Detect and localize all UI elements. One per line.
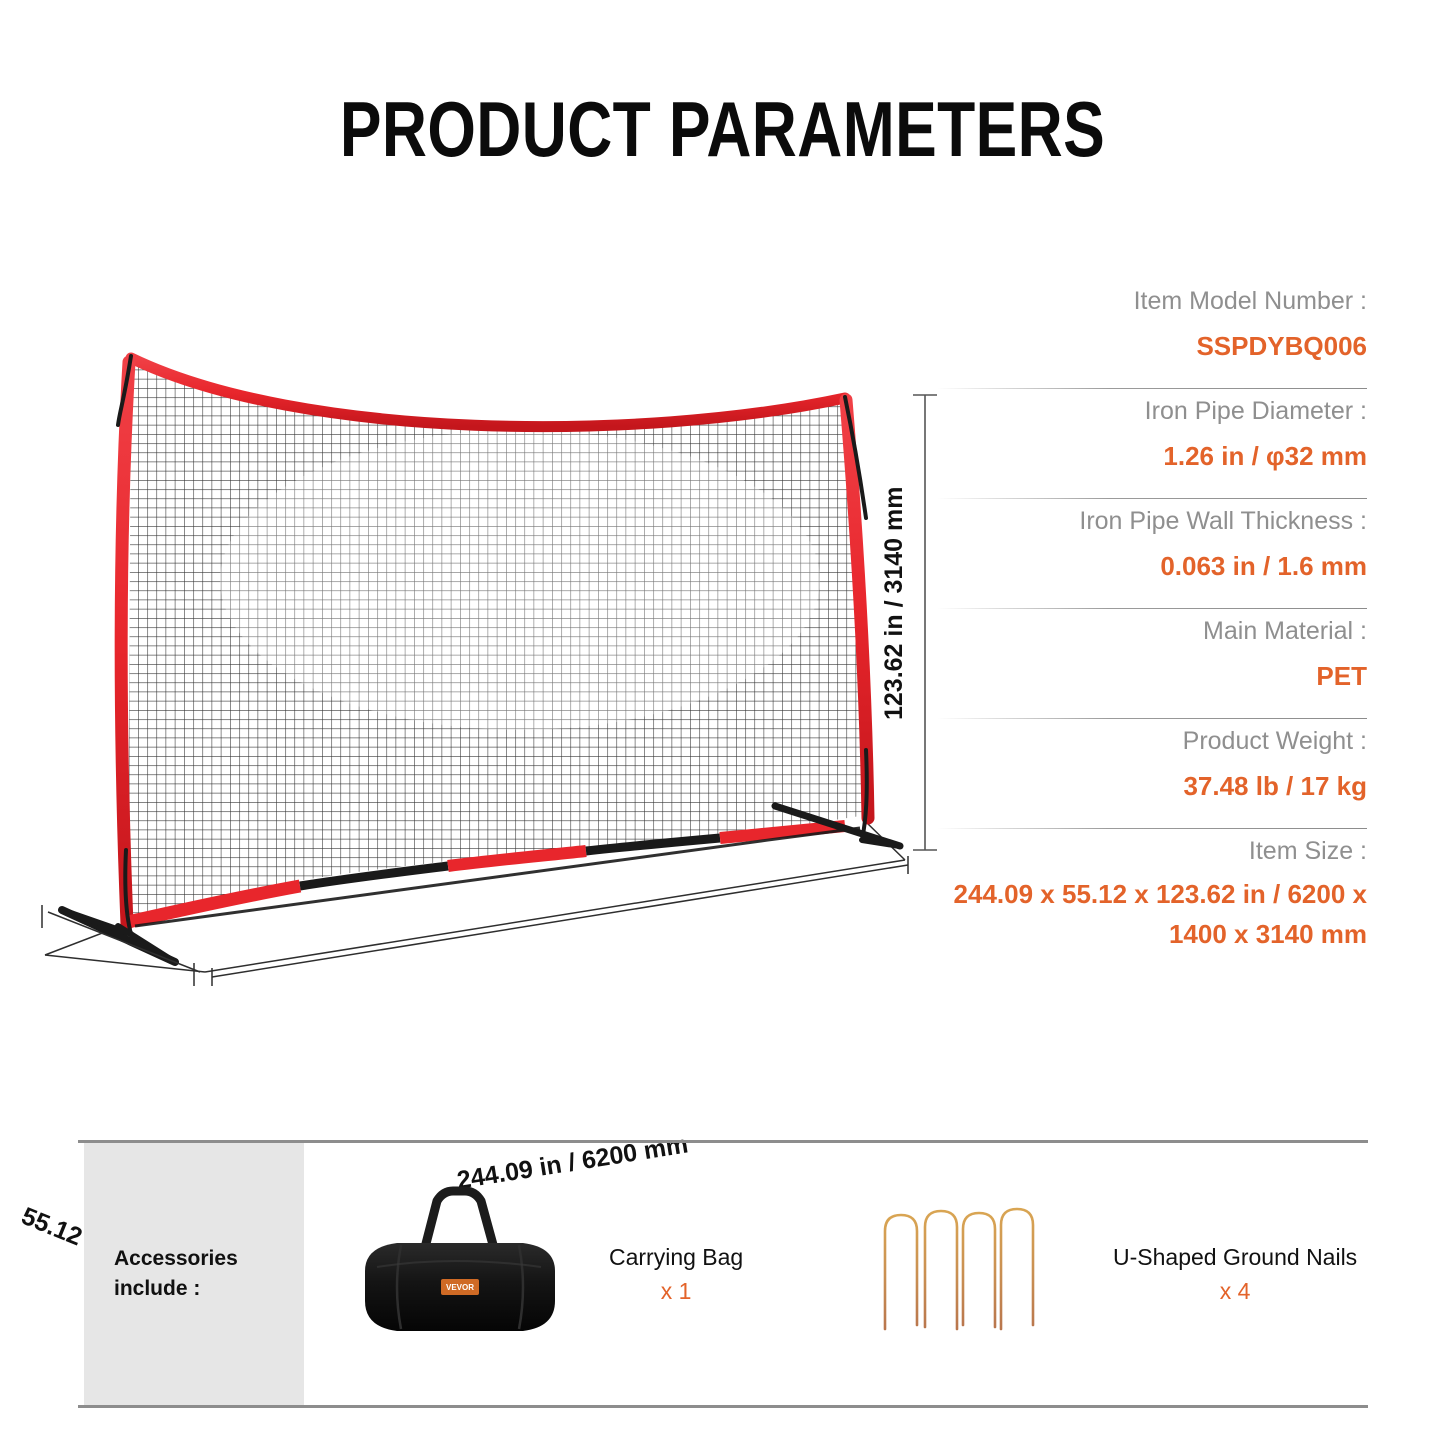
spec-row-product-weight: Product Weight : 37.48 lb / 17 kg: [937, 718, 1367, 818]
spec-value: 244.09 x 55.12 x 123.62 in / 6200 x 1400…: [937, 874, 1367, 954]
spec-value: 37.48 lb / 17 kg: [937, 764, 1367, 808]
svg-text:VEVOR: VEVOR: [446, 1283, 474, 1292]
spec-value: SSPDYBQ006: [937, 324, 1367, 368]
spec-value: 1.26 in / φ32 mm: [937, 434, 1367, 478]
accessories-label-panel: Accessories include :: [84, 1143, 304, 1405]
spec-label: Iron Pipe Diameter :: [937, 388, 1367, 434]
spec-label: Item Model Number :: [937, 278, 1367, 324]
specification-table: Item Model Number : SSPDYBQ006 Iron Pipe…: [937, 278, 1367, 964]
page-title: PRODUCT PARAMETERS: [145, 86, 1301, 172]
spec-value: PET: [937, 654, 1367, 698]
accessory-caption: U-Shaped Ground Nails x 4: [1113, 1240, 1357, 1308]
spec-row-item-model-number: Item Model Number : SSPDYBQ006: [937, 278, 1367, 378]
spec-row-item-size: Item Size : 244.09 x 55.12 x 123.62 in /…: [937, 828, 1367, 964]
spec-value: 0.063 in / 1.6 mm: [937, 544, 1367, 588]
spec-label: Main Material :: [937, 608, 1367, 654]
product-illustration: 123.62 in / 3140 mm 244.09 in / 6200 mm …: [0, 250, 960, 1060]
spec-label: Iron Pipe Wall Thickness :: [937, 498, 1367, 544]
accessory-caption: Carrying Bag x 1: [609, 1240, 743, 1308]
accessory-quantity: x 1: [609, 1274, 743, 1308]
dimension-height-label: 123.62 in / 3140 mm: [880, 487, 909, 720]
accessory-item-carrying-bag: VEVOR Carrying Bag x 1: [333, 1143, 853, 1405]
accessory-quantity: x 4: [1113, 1274, 1357, 1308]
u-shaped-ground-nails-icon: [853, 1179, 1053, 1369]
spec-label: Item Size :: [937, 828, 1367, 874]
accessory-name: Carrying Bag: [609, 1240, 743, 1274]
spec-row-iron-pipe-diameter: Iron Pipe Diameter : 1.26 in / φ32 mm: [937, 388, 1367, 488]
accessories-section: Accessories include :: [78, 1140, 1368, 1408]
spec-row-iron-pipe-wall-thickness: Iron Pipe Wall Thickness : 0.063 in / 1.…: [937, 498, 1367, 598]
product-parameters-page: PRODUCT PARAMETERS: [0, 0, 1445, 1445]
carrying-bag-icon: VEVOR: [333, 1179, 583, 1369]
spec-label: Product Weight :: [937, 718, 1367, 764]
accessory-name: U-Shaped Ground Nails: [1113, 1240, 1357, 1274]
accessory-item-ground-nails: U-Shaped Ground Nails x 4: [853, 1143, 1368, 1405]
spec-row-main-material: Main Material : PET: [937, 608, 1367, 708]
accessories-include-label: Accessories include :: [114, 1244, 304, 1304]
